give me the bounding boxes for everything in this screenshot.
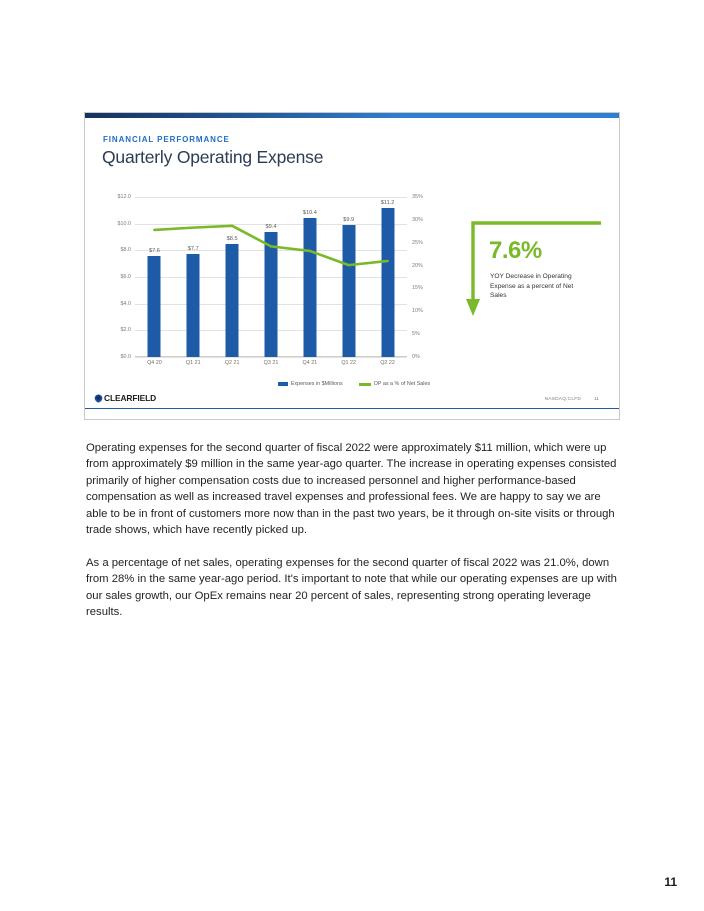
chart-ytick-right: 20% xyxy=(412,263,423,269)
chart-ytick-right: 5% xyxy=(412,331,420,337)
chart-plot-area: $0.0$2.0$4.0$6.0$8.0$10.0$12.00%5%10%15%… xyxy=(135,197,407,357)
chart-ytick-left: $6.0 xyxy=(121,274,132,280)
chart-ytick-right: 25% xyxy=(412,240,423,246)
chart-line-series xyxy=(135,197,407,357)
chart-ytick-left: $2.0 xyxy=(121,327,132,333)
chart-xtick-label: Q2 21 xyxy=(225,360,240,366)
chart-xtick-label: Q4 20 xyxy=(147,360,162,366)
chart-ytick-left: $4.0 xyxy=(121,301,132,307)
clearfield-logo: CLEARFIELD xyxy=(94,393,156,403)
legend-label-expenses: Expenses in $Millions xyxy=(291,381,343,387)
legend-swatch-bar-icon xyxy=(278,382,288,386)
chart-xtick-label: Q1 21 xyxy=(186,360,201,366)
slide-top-accent-band xyxy=(85,113,619,118)
chart-xtick-label: Q2 22 xyxy=(380,360,395,366)
legend-item-expenses: Expenses in $Millions xyxy=(278,381,343,387)
callout-description: YOY Decrease in Operating Expense as a p… xyxy=(490,272,585,301)
slide-ticker-label: NASDAQ:CLFD xyxy=(545,397,581,402)
slide-title: Quarterly Operating Expense xyxy=(102,147,323,168)
callout-value: 7.6% xyxy=(489,237,542,265)
clearfield-logo-text: CLEARFIELD xyxy=(104,393,156,403)
presentation-slide: FINANCIAL PERFORMANCE Quarterly Operatin… xyxy=(84,112,620,420)
callout-annotation: 7.6% YOY Decrease in Operating Expense a… xyxy=(453,217,603,327)
chart-ytick-right: 0% xyxy=(412,354,420,360)
legend-item-op-percent: OP as a % of Net Sales xyxy=(359,381,431,387)
chart-xtick-label: Q3 21 xyxy=(264,360,279,366)
chart-ytick-right: 30% xyxy=(412,217,423,223)
chart-ytick-right: 15% xyxy=(412,285,423,291)
body-paragraph-1: Operating expenses for the second quarte… xyxy=(86,440,621,539)
chart-gridline xyxy=(135,357,407,358)
clearfield-diamond-logo-icon xyxy=(94,394,103,403)
slide-page-number: 11 xyxy=(594,397,599,402)
document-page-number: 11 xyxy=(664,875,677,889)
chart-ytick-right: 35% xyxy=(412,194,423,200)
legend-label-op-percent: OP as a % of Net Sales xyxy=(374,381,431,387)
chart-ytick-right: 10% xyxy=(412,308,423,314)
chart-ytick-left: $10.0 xyxy=(118,221,132,227)
slide-eyebrow-label: FINANCIAL PERFORMANCE xyxy=(103,135,230,144)
legend-swatch-line-icon xyxy=(359,383,371,386)
chart: $0.0$2.0$4.0$6.0$8.0$10.0$12.00%5%10%15%… xyxy=(99,189,439,375)
chart-ytick-left: $8.0 xyxy=(121,247,132,253)
body-text-block: Operating expenses for the second quarte… xyxy=(86,440,621,621)
slide-footer-divider xyxy=(85,408,619,410)
body-paragraph-2: As a percentage of net sales, operating … xyxy=(86,555,621,621)
chart-xtick-label: Q1 22 xyxy=(341,360,356,366)
chart-ytick-left: $12.0 xyxy=(118,194,132,200)
chart-legend: Expenses in $Millions OP as a % of Net S… xyxy=(121,381,587,387)
chart-ytick-left: $0.0 xyxy=(121,354,132,360)
chart-xtick-label: Q4 21 xyxy=(303,360,318,366)
